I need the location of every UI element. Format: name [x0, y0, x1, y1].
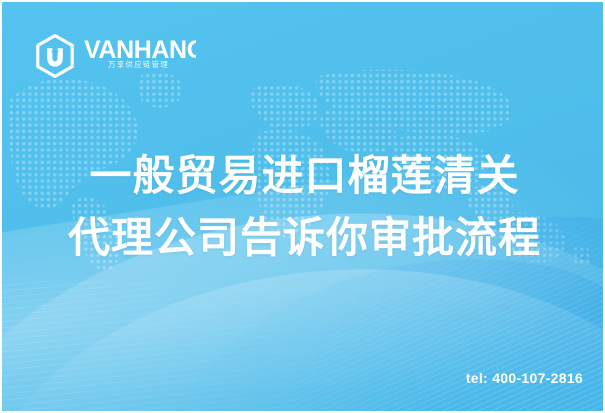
headline-line-1: 一般贸易进口榴莲清关 [2, 145, 605, 207]
brand-subtext: 万享供应链管理 [108, 59, 169, 69]
hexagon-u-logo-icon [35, 34, 75, 78]
brand-wordmark-group: VANHANG 万享供应链管理 [84, 37, 196, 76]
brand-wordmark-icon: VANHANG 万享供应链管理 [84, 37, 196, 71]
diagonal-hairline-texture-left [2, 281, 422, 411]
page-title: 一般贸易进口榴莲清关 代理公司告诉你审批流程 [2, 145, 605, 269]
headline-line-2: 代理公司告诉你审批流程 [2, 207, 605, 269]
contact-phone: tel: 400-107-2816 [466, 370, 583, 386]
brand-logo: VANHANG 万享供应链管理 [35, 34, 196, 78]
promo-banner: VANHANG 万享供应链管理 一般贸易进口榴莲清关 代理公司告诉你审批流程 t… [0, 0, 605, 413]
